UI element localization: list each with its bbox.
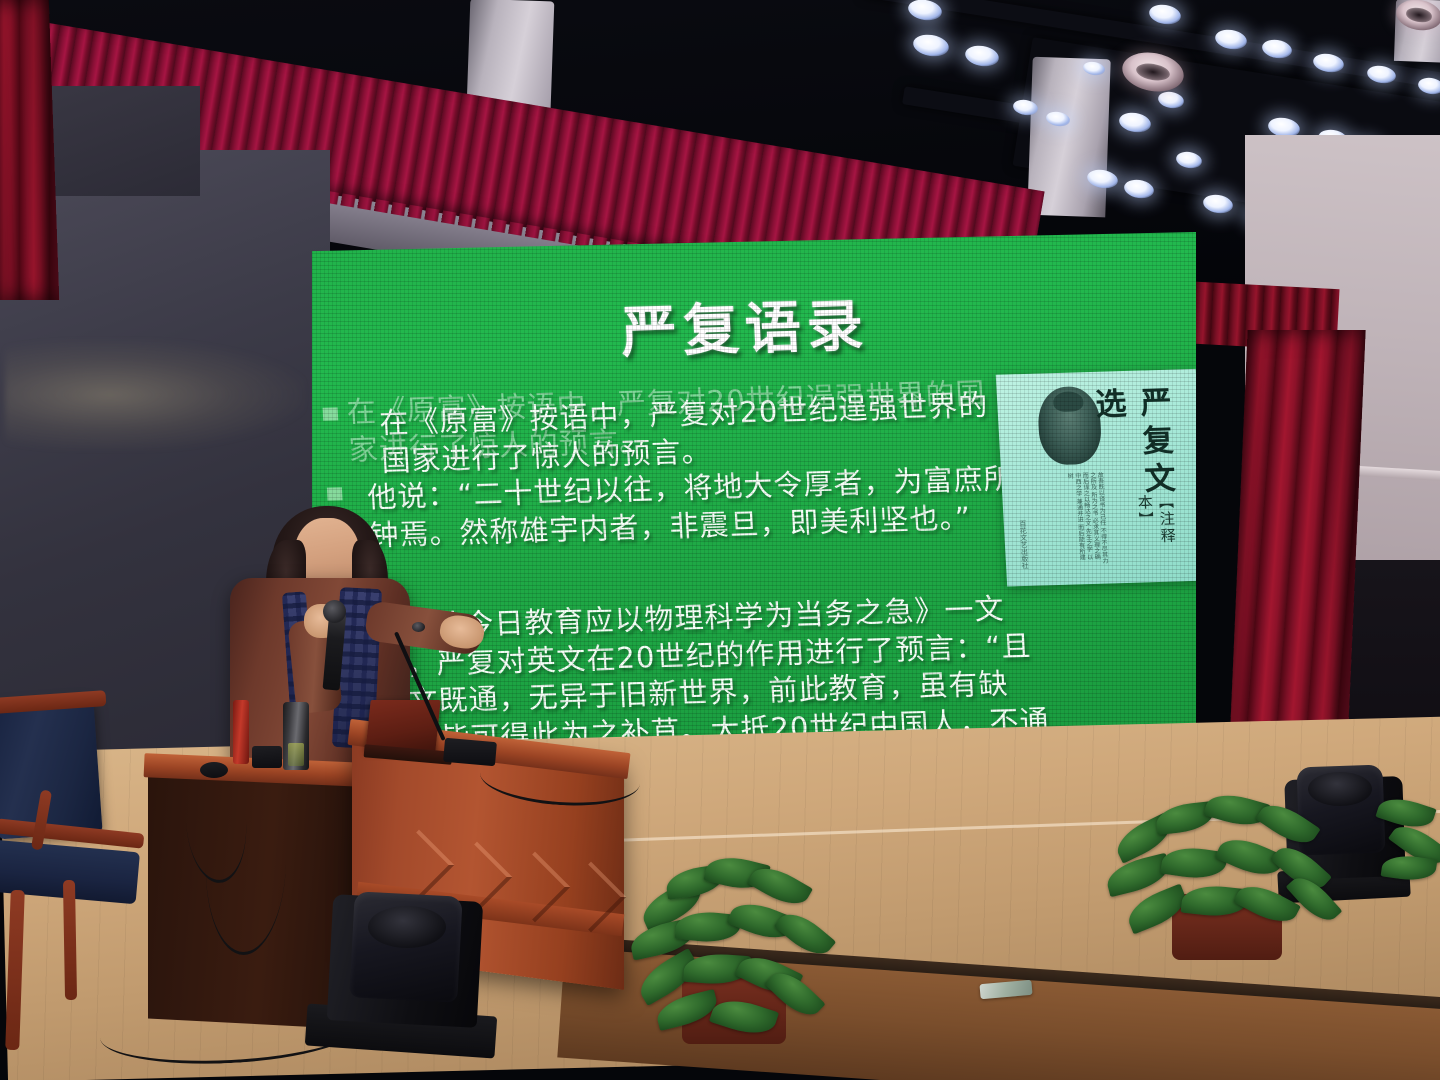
potted-plant-right	[1106, 790, 1346, 960]
moving-light-lens-icon	[368, 906, 446, 948]
potted-plant-center	[626, 850, 846, 1050]
potted-plant-far-right	[1378, 790, 1440, 880]
book-publisher: 百花文艺出版社	[1018, 520, 1031, 578]
book-cover-image: 严复文选 【注释本】 故吾既以译书为己任 不得不尽其力之所及 所为之书 必求其义…	[996, 369, 1196, 587]
backdrop-glare	[5, 340, 305, 450]
chair-leg-rear	[63, 880, 77, 1000]
stage-photograph: 严复语录 在《原富》按语中，严复对20世纪逞强世界的国家进行了惊人的预言。 在《…	[0, 0, 1440, 1080]
led-presentation-screen: 严复语录 在《原富》按语中，严复对20世纪逞强世界的国家进行了惊人的预言。 在《…	[312, 232, 1196, 762]
book-blurb: 故吾既以译书为己任 不得不尽其力之所及 所为之书 必求其义理之确 而后译之以畅达…	[1029, 472, 1108, 566]
slide-canvas: 严复语录 在《原富》按语中，严复对20世纪逞强世界的国家进行了惊人的预言。 在《…	[312, 232, 1196, 762]
slide-title: 严复语录	[312, 271, 1189, 378]
stage-curtain-right	[1228, 330, 1365, 772]
chair-backrest[interactable]	[0, 697, 103, 840]
bullet-marker-2	[327, 487, 343, 500]
bullet-marker-1	[323, 407, 339, 420]
podium-red-object	[233, 700, 249, 764]
stage-curtain-left-edge	[0, 0, 59, 300]
thermos-flask[interactable]	[283, 702, 309, 770]
microphone-head-icon	[323, 600, 346, 623]
gooseneck-mic-capsule	[412, 622, 425, 632]
book-subtitle: 【注释本】	[1134, 493, 1180, 570]
podium-small-device	[252, 746, 282, 768]
